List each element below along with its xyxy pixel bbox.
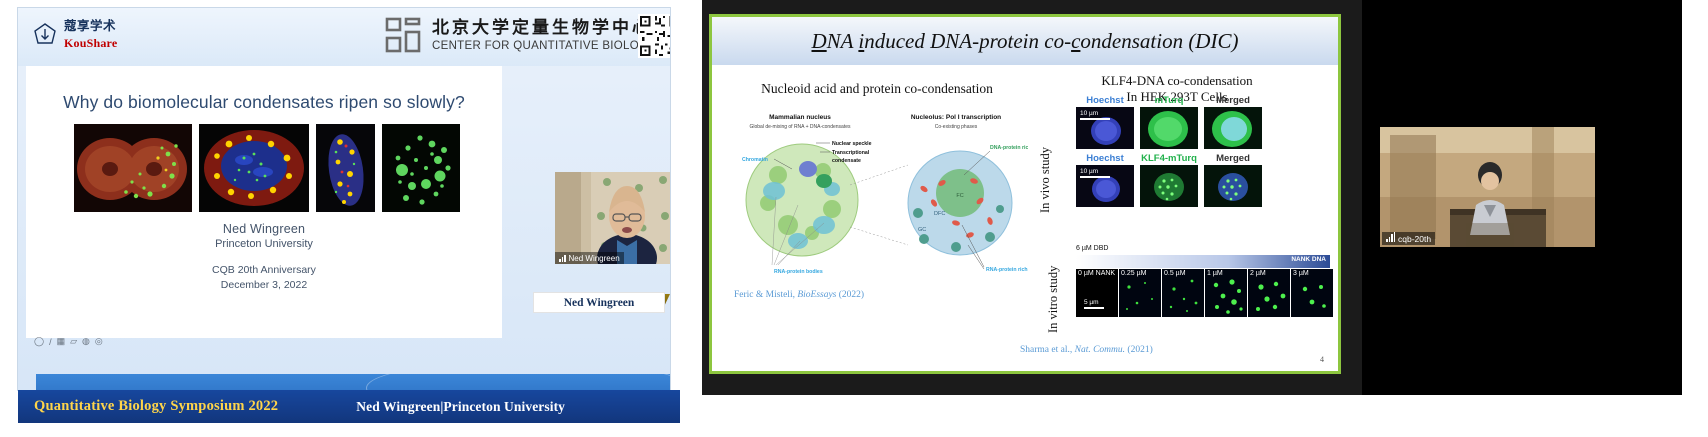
- svg-text:FC: FC: [956, 193, 963, 199]
- signal-bars-icon: [1386, 235, 1395, 242]
- grid-icon[interactable]: ▦: [57, 336, 66, 347]
- invivo-row1-header-1: Hoechst: [1076, 95, 1134, 106]
- slide-event-line1: CQB 20th Anniversary: [212, 264, 316, 276]
- citation-left-author: Feric & Misteli,: [734, 290, 797, 300]
- koushare-diamond-icon: [32, 22, 58, 48]
- invivo-row2-header-2: KLF4-mTurq: [1140, 153, 1198, 164]
- invitro-dbd-label: 6 µM DBD: [1076, 245, 1108, 252]
- screenshot-root: 蔻享学术 KouShare 北京大学定量生物学中心: [0, 0, 1708, 437]
- left-recording-panel: 蔻享学术 KouShare 北京大学定量生物学中心: [0, 0, 680, 437]
- circle-icon[interactable]: ◯: [34, 336, 44, 347]
- slide-speaker-name: Ned Wingreen: [26, 222, 502, 236]
- dot-icon[interactable]: ◍: [82, 336, 90, 347]
- invitro-cell-5-label: 3 µM: [1293, 270, 1309, 277]
- speaker-webcam-left[interactable]: Ned Wingreen: [555, 172, 670, 264]
- invitro-cell-4-label: 2 µM: [1250, 270, 1266, 277]
- slide-body: Nucleoid acid and protein co-condensatio…: [712, 65, 1338, 370]
- invivo-r2c3-merged: [1204, 165, 1262, 207]
- invivo-row1-header-3: Merged: [1204, 95, 1262, 106]
- title-underline-d: D: [812, 29, 827, 53]
- citation-right-author: Sharma et al.,: [1020, 345, 1075, 355]
- invivo-row2-header-1: Hoechst: [1076, 153, 1134, 164]
- cqb-brand: 北京大学定量生物学中心 CENTER FOR QUANTITATIVE BIOL…: [384, 16, 656, 56]
- koushare-brand[interactable]: 蔻享学术 KouShare: [32, 18, 117, 52]
- footer-speaker: Ned Wingreen|Princeton University: [356, 399, 565, 415]
- invivo-r2c2-klf4-mturq: [1140, 165, 1198, 207]
- in-vivo-study-block: In vivo study Hoechst mTurq Merged 10 µm: [1042, 107, 1322, 217]
- left-section-heading: Nucleoid acid and protein co-condensatio…: [732, 81, 1022, 97]
- in-vivo-axis-label: In vivo study: [1038, 113, 1053, 213]
- invitro-cell-1-label: 0.25 µM: [1121, 270, 1146, 277]
- invitro-cell-3: 1 µM: [1205, 269, 1247, 317]
- invivo-r1c3-merged: [1204, 107, 1262, 149]
- slash-icon[interactable]: /: [49, 337, 52, 347]
- slide-title-bar: DNA induced DNA-protein co-condensation …: [712, 17, 1338, 65]
- presentation-slide: DNA induced DNA-protein co-condensation …: [709, 14, 1341, 374]
- nameplate-box: Ned Wingreen: [533, 292, 665, 313]
- svg-text:Transcriptional: Transcriptional: [832, 150, 870, 156]
- citation-right-year: (2021): [1125, 345, 1153, 355]
- invitro-image-strip: 0 µM NANK 5 µm 0.25 µM 0: [1076, 269, 1333, 317]
- svg-text:Chromatin: Chromatin: [742, 157, 768, 163]
- invivo-r1c2-mturq: [1140, 107, 1198, 149]
- svg-text:DNA-protein rich: DNA-protein rich: [990, 145, 1028, 151]
- invitro-cell-2: 0.5 µM: [1162, 269, 1204, 317]
- invitro-cell-2-label: 0.5 µM: [1164, 270, 1186, 277]
- citation-right-journal: Nat. Commu.: [1075, 345, 1125, 355]
- invitro-gradient-label: NANK DNA: [1291, 256, 1326, 263]
- qr-code-icon: [638, 14, 670, 58]
- invitro-cell-5: 3 µM: [1291, 269, 1333, 317]
- shared-screen-stage: DNA induced DNA-protein co-condensation …: [702, 0, 1362, 395]
- svg-text:Mammalian nucleus: Mammalian nucleus: [769, 114, 831, 121]
- player-blue-band: [36, 374, 670, 390]
- svg-text:condensate: condensate: [832, 158, 861, 164]
- citation-right: Sharma et al., Nat. Commu. (2021): [1020, 345, 1153, 355]
- shared-slide-canvas: Why do biomolecular condensates ripen so…: [26, 66, 502, 338]
- koushare-player-window: 蔻享学术 KouShare 北京大学定量生物学中心: [18, 8, 670, 390]
- invitro-cell-0-label: 0 µM NANK: [1078, 270, 1115, 277]
- koushare-name-cn: 蔻享学术: [64, 19, 116, 33]
- speaker-webcam-right[interactable]: cqb-20th: [1380, 127, 1595, 247]
- footer-event-title: Quantitative Biology Symposium 2022: [34, 398, 278, 415]
- signal-bars-icon: [559, 255, 566, 262]
- citation-left-journal: BioEssays: [797, 290, 836, 300]
- eraser-icon[interactable]: ▱: [70, 336, 77, 347]
- nucleoid-acid-protein-figure: Mammalian nucleus Global de-mixing of RN…: [728, 105, 1028, 280]
- svg-text:Global de-mixing of RNA + DNA-: Global de-mixing of RNA + DNA-condensate…: [749, 124, 851, 130]
- session-footer-bar: Quantitative Biology Symposium 2022 Ned …: [18, 390, 680, 423]
- condensate-micrograph-2: [199, 124, 309, 212]
- title-underline-c: c: [1071, 29, 1080, 53]
- invivo-r2-scalebar: 10 µm: [1080, 168, 1110, 178]
- svg-text:RNA-protein bodies: RNA-protein bodies: [774, 269, 823, 275]
- invivo-r2c1-hoechst: 10 µm: [1076, 165, 1134, 207]
- invivo-r1-scalebar: 10 µm: [1080, 110, 1110, 120]
- invitro-cell-1: 0.25 µM: [1119, 269, 1161, 317]
- concentration-gradient-bar: NANK DNA: [1076, 255, 1330, 268]
- right-share-panel: DNA induced DNA-protein co-condensation …: [680, 0, 1708, 437]
- cqb-name-en: CENTER FOR QUANTITATIVE BIOLOGY: [432, 40, 656, 52]
- webcam-name-label: Ned Wingreen: [555, 252, 624, 264]
- invitro-cell-3-label: 1 µM: [1207, 270, 1223, 277]
- micrograph-row: [74, 124, 460, 212]
- invitro-cell-0: 0 µM NANK 5 µm: [1076, 269, 1118, 317]
- invivo-r1c1-hoechst: 10 µm: [1076, 107, 1134, 149]
- svg-text:Nuclear speckle: Nuclear speckle: [832, 141, 872, 147]
- slide-speaker-institution: Princeton University: [26, 238, 502, 250]
- citation-left: Feric & Misteli, BioEssays (2022): [734, 290, 864, 300]
- condensate-micrograph-4: [382, 124, 460, 212]
- invitro-cell-4: 2 µM: [1248, 269, 1290, 317]
- slide-title-text: DNA induced DNA-protein co-condensation …: [812, 29, 1239, 54]
- svg-text:Nucleolus: Pol I transcription: Nucleolus: Pol I transcription: [911, 114, 1001, 121]
- condensate-micrograph-3: [316, 124, 375, 212]
- slide-page-number: 4: [1320, 355, 1324, 364]
- gear-icon[interactable]: ◎: [95, 336, 103, 347]
- slide-event-line2: December 3, 2022: [221, 279, 307, 291]
- band-swoosh-decor: [366, 374, 670, 390]
- citation-left-year: (2022): [836, 290, 864, 300]
- in-vitro-study-block: In vitro study 6 µM DBD NANK DNA 0 µM NA…: [1042, 245, 1332, 340]
- koushare-header: 蔻享学术 KouShare 北京大学定量生物学中心: [18, 8, 670, 66]
- right-section-heading-line1: KLF4-DNA co-condensation: [1101, 73, 1252, 88]
- invitro-scalebar: 5 µm: [1084, 299, 1104, 309]
- nameplate-box-text: Ned Wingreen: [564, 297, 635, 309]
- speaker-cam-label-text: cqb-20th: [1398, 234, 1431, 244]
- svg-text:RNA-protein rich: RNA-protein rich: [986, 267, 1028, 273]
- slide-credit-block: Ned Wingreen Princeton University CQB 20…: [26, 222, 502, 293]
- condensate-micrograph-1: [74, 124, 192, 212]
- annotation-toolbar[interactable]: ◯ / ▦ ▱ ◍ ◎: [34, 336, 103, 347]
- svg-text:DFC: DFC: [934, 211, 945, 217]
- invivo-row2-header-3: Merged: [1204, 153, 1262, 164]
- speaker-cam-label: cqb-20th: [1382, 232, 1435, 245]
- invivo-row1-header-2: mTurq: [1140, 95, 1198, 106]
- slide-title: Why do biomolecular condensates ripen so…: [44, 92, 484, 113]
- svg-text:Co-existing phases: Co-existing phases: [935, 124, 978, 130]
- cqb-name-cn: 北京大学定量生物学中心: [432, 18, 652, 37]
- svg-text:GC: GC: [918, 227, 926, 233]
- webcam-name-text: Ned Wingreen: [569, 254, 620, 263]
- koushare-name-en: KouShare: [64, 36, 117, 50]
- cqb-logo-icon: [384, 16, 424, 56]
- in-vitro-axis-label: In vitro study: [1046, 251, 1061, 333]
